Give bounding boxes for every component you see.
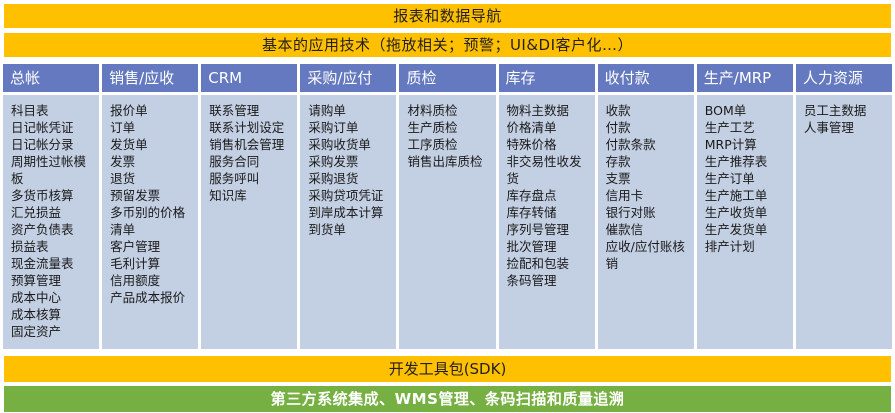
module-item[interactable]: 多币别的价格清单	[110, 204, 194, 238]
module-column: 收付款收款付款付款条款存款支票信用卡银行对账催款信应收/应付账核销	[598, 64, 694, 349]
module-item[interactable]: 支票	[606, 170, 690, 187]
module-column: 采购/应付请购单采购订单采购收货单采购发票采购退货采购贷项凭证到岸成本计算到货单	[300, 64, 396, 349]
module-item[interactable]: 生产收货单	[705, 204, 789, 221]
column-header[interactable]: CRM	[201, 64, 297, 92]
module-item[interactable]: 排产计划	[705, 238, 789, 255]
module-item[interactable]: 采购收货单	[308, 136, 392, 153]
module-item[interactable]: 服务呼叫	[209, 170, 293, 187]
module-column: 总帐科目表日记帐凭证日记帐分录周期性过帐模板多货币核算汇兑损益资产负债表损益表现…	[3, 64, 99, 349]
module-item[interactable]: 请购单	[308, 102, 392, 119]
module-item[interactable]: 日记帐分录	[11, 136, 95, 153]
module-columns: 总帐科目表日记帐凭证日记帐分录周期性过帐模板多货币核算汇兑损益资产负债表损益表现…	[3, 64, 892, 349]
column-body: 员工主数据人事管理	[796, 95, 892, 349]
module-item[interactable]: 批次管理	[507, 238, 591, 255]
banner-technology: 基本的应用技术（拖放相关；预警；UI&DI客户化…）	[3, 32, 892, 58]
module-item[interactable]: 付款	[606, 119, 690, 136]
footer-integration: 第三方系统集成、WMS管理、条码扫描和质量追溯	[3, 385, 892, 413]
module-item[interactable]: 生产订单	[705, 170, 789, 187]
module-item[interactable]: 存款	[606, 153, 690, 170]
module-item[interactable]: 周期性过帐模板	[11, 153, 95, 187]
column-body: 联系管理联系计划设定销售机会管理服务合同服务呼叫知识库	[201, 95, 297, 349]
module-item[interactable]: 捡配和包装	[507, 255, 591, 272]
column-header[interactable]: 收付款	[598, 64, 694, 92]
module-item[interactable]: 订单	[110, 119, 194, 136]
module-item[interactable]: 成本核算	[11, 306, 95, 323]
module-item[interactable]: 价格清单	[507, 119, 591, 136]
module-item[interactable]: 特殊价格	[507, 136, 591, 153]
module-item[interactable]: 工序质检	[407, 136, 491, 153]
module-item[interactable]: 报价单	[110, 102, 194, 119]
column-body: 材料质检生产质检工序质检销售出库质检	[399, 95, 495, 349]
module-item[interactable]: 客户管理	[110, 238, 194, 255]
module-column: 库存物料主数据价格清单特殊价格非交易性收发货库存盘点库存转储序列号管理批次管理捡…	[499, 64, 595, 349]
module-item[interactable]: 发货单	[110, 136, 194, 153]
column-body: BOM单生产工艺MRP计算生产推荐表生产订单生产施工单生产收货单生产发货单排产计…	[697, 95, 793, 349]
module-column: 销售/应收报价单订单发货单发票退货预留发票多币别的价格清单客户管理毛利计算信用额…	[102, 64, 198, 349]
module-item[interactable]: 采购贷项凭证	[308, 187, 392, 204]
column-header[interactable]: 采购/应付	[300, 64, 396, 92]
module-item[interactable]: 生产工艺	[705, 119, 789, 136]
module-item[interactable]: 联系计划设定	[209, 119, 293, 136]
module-item[interactable]: 采购退货	[308, 170, 392, 187]
module-item[interactable]: 资产负债表	[11, 221, 95, 238]
module-item[interactable]: 销售机会管理	[209, 136, 293, 153]
module-item[interactable]: 销售出库质检	[407, 153, 491, 170]
module-item[interactable]: 生产推荐表	[705, 153, 789, 170]
module-item[interactable]: 损益表	[11, 238, 95, 255]
module-item[interactable]: 采购发票	[308, 153, 392, 170]
module-item[interactable]: MRP计算	[705, 136, 789, 153]
module-column: 生产/MRPBOM单生产工艺MRP计算生产推荐表生产订单生产施工单生产收货单生产…	[697, 64, 793, 349]
erp-module-map: 报表和数据导航 基本的应用技术（拖放相关；预警；UI&DI客户化…） 总帐科目表…	[0, 0, 895, 410]
module-item[interactable]: 生产质检	[407, 119, 491, 136]
module-item[interactable]: 到岸成本计算	[308, 204, 392, 221]
module-item[interactable]: 固定资产	[11, 323, 95, 340]
module-item[interactable]: 发票	[110, 153, 194, 170]
column-body: 报价单订单发货单发票退货预留发票多币别的价格清单客户管理毛利计算信用额度产品成本…	[102, 95, 198, 349]
module-item[interactable]: 信用额度	[110, 272, 194, 289]
module-column: 人力资源员工主数据人事管理	[796, 64, 892, 349]
module-item[interactable]: 采购订单	[308, 119, 392, 136]
module-item[interactable]: 非交易性收发货	[507, 153, 591, 187]
module-item[interactable]: 员工主数据	[804, 102, 888, 119]
module-item[interactable]: 科目表	[11, 102, 95, 119]
column-header[interactable]: 质检	[399, 64, 495, 92]
module-item[interactable]: 退货	[110, 170, 194, 187]
column-header[interactable]: 生产/MRP	[697, 64, 793, 92]
banner-title: 报表和数据导航	[3, 3, 892, 29]
module-item[interactable]: 毛利计算	[110, 255, 194, 272]
module-item[interactable]: 成本中心	[11, 289, 95, 306]
column-header[interactable]: 人力资源	[796, 64, 892, 92]
module-item[interactable]: 序列号管理	[507, 221, 591, 238]
module-item[interactable]: 服务合同	[209, 153, 293, 170]
module-item[interactable]: 日记帐凭证	[11, 119, 95, 136]
column-header[interactable]: 总帐	[3, 64, 99, 92]
module-column: 质检材料质检生产质检工序质检销售出库质检	[399, 64, 495, 349]
module-item[interactable]: 信用卡	[606, 187, 690, 204]
column-header[interactable]: 销售/应收	[102, 64, 198, 92]
column-body: 请购单采购订单采购收货单采购发票采购退货采购贷项凭证到岸成本计算到货单	[300, 95, 396, 349]
column-header[interactable]: 库存	[499, 64, 595, 92]
footer-sdk: 开发工具包(SDK)	[3, 355, 892, 383]
column-body: 物料主数据价格清单特殊价格非交易性收发货库存盘点库存转储序列号管理批次管理捡配和…	[499, 95, 595, 349]
module-item[interactable]: 预留发票	[110, 187, 194, 204]
module-item[interactable]: 生产发货单	[705, 221, 789, 238]
module-item[interactable]: 产品成本报价	[110, 289, 194, 306]
module-item[interactable]: 预算管理	[11, 272, 95, 289]
module-item[interactable]: 物料主数据	[507, 102, 591, 119]
module-item[interactable]: 汇兑损益	[11, 204, 95, 221]
module-item[interactable]: 库存转储	[507, 204, 591, 221]
column-body: 科目表日记帐凭证日记帐分录周期性过帐模板多货币核算汇兑损益资产负债表损益表现金流…	[3, 95, 99, 349]
module-item[interactable]: 现金流量表	[11, 255, 95, 272]
module-item[interactable]: 收款	[606, 102, 690, 119]
module-item[interactable]: 人事管理	[804, 119, 888, 136]
module-column: CRM联系管理联系计划设定销售机会管理服务合同服务呼叫知识库	[201, 64, 297, 349]
module-item[interactable]: 银行对账	[606, 204, 690, 221]
module-item[interactable]: 生产施工单	[705, 187, 789, 204]
module-item[interactable]: 材料质检	[407, 102, 491, 119]
module-item[interactable]: 到货单	[308, 221, 392, 238]
module-item[interactable]: 应收/应付账核销	[606, 238, 690, 272]
column-body: 收款付款付款条款存款支票信用卡银行对账催款信应收/应付账核销	[598, 95, 694, 349]
module-item[interactable]: BOM单	[705, 102, 789, 119]
module-item[interactable]: 知识库	[209, 187, 293, 204]
module-item[interactable]: 催款信	[606, 221, 690, 238]
module-item[interactable]: 条码管理	[507, 272, 591, 289]
module-item[interactable]: 库存盘点	[507, 187, 591, 204]
module-item[interactable]: 联系管理	[209, 102, 293, 119]
module-item[interactable]: 付款条款	[606, 136, 690, 153]
module-item[interactable]: 多货币核算	[11, 187, 95, 204]
